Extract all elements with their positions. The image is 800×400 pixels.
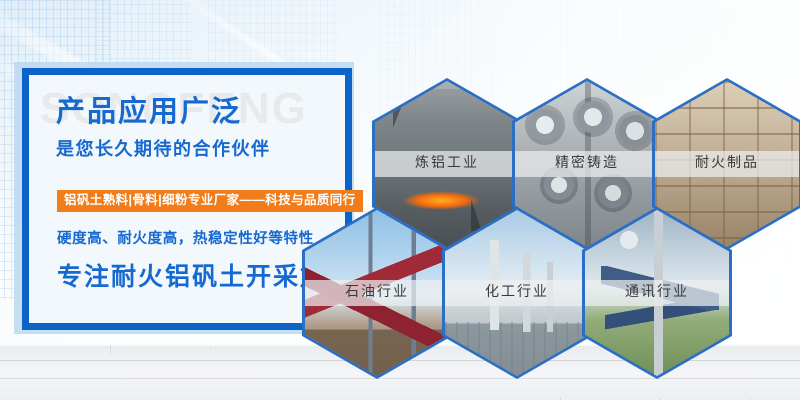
headline-text: 产品应用广泛 bbox=[56, 98, 366, 127]
headline-block: 产品应用广泛 是您长久期待的合作伙伴 bbox=[56, 98, 366, 158]
hex-label-chemical-industry: 化工行业 bbox=[445, 280, 589, 306]
subheadline-text: 是您长久期待的合作伙伴 bbox=[56, 140, 366, 158]
hex-label-communications-industry: 通讯行业 bbox=[585, 280, 729, 306]
hex-label-refractory-products: 耐火制品 bbox=[655, 151, 799, 177]
hex-label-oil-industry: 石油行业 bbox=[305, 280, 449, 306]
hex-label-precision-casting: 精密铸造 bbox=[515, 151, 659, 177]
feature-text: 硬度高、耐火度高，热稳定性好等特性 bbox=[57, 232, 314, 247]
tagline-strip: 铝矾土熟料|骨料|细粉专业厂家——科技与品质同行 bbox=[57, 190, 363, 212]
hex-label-aluminium-smelting: 炼铝工业 bbox=[375, 151, 519, 177]
promotional-banner: SONGFENG 产品应用广泛 是您长久期待的合作伙伴 铝矾土熟料|骨料|细粉专… bbox=[0, 0, 800, 400]
